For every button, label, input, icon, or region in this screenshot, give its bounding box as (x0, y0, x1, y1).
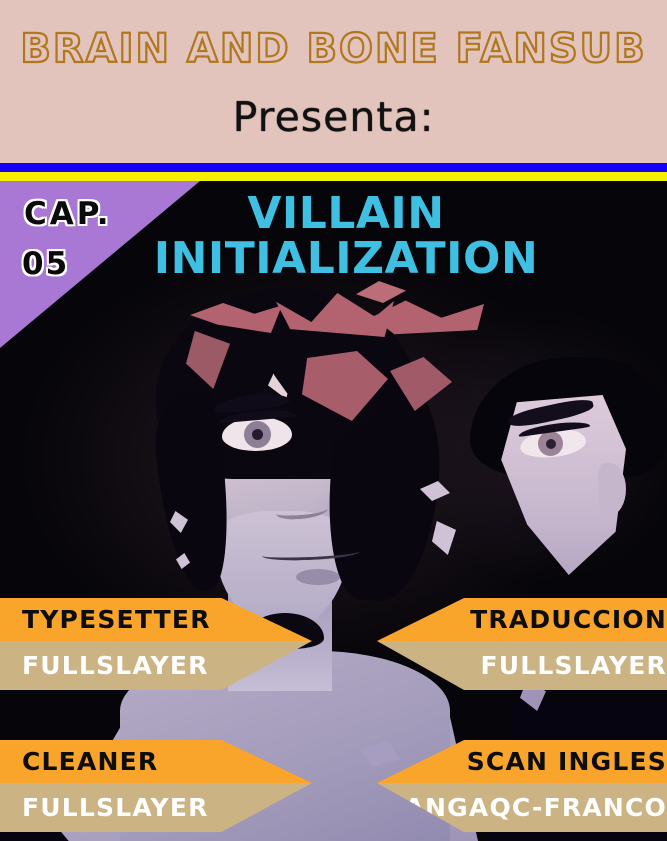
credits-page: BRAIN AND BONE FANSUB Presenta: (0, 0, 667, 841)
credit-role-label: TYPESETTER (22, 605, 211, 634)
credit-name-label: FULLSLAYER (22, 651, 209, 680)
manga-title-line-one: VILLAIN (96, 192, 596, 237)
credit-name-label: FULLSLAYER (480, 651, 667, 680)
chapter-number: 05 (22, 246, 69, 282)
header-band: BRAIN AND BONE FANSUB Presenta: (0, 0, 667, 163)
credit-role-label: SCAN INGLES (467, 747, 667, 776)
credit-role-label: CLEANER (22, 747, 158, 776)
blue-divider-stripe (0, 163, 667, 172)
character-one-chin-shadow (296, 569, 340, 585)
credit-role-label: TRADUCCION (470, 605, 667, 634)
character-one-pupil (252, 429, 263, 440)
character-two-pupil (546, 439, 556, 449)
manga-title: VILLAIN INITIALIZATION (96, 192, 596, 282)
credit-name-label: FULLSLAYER (22, 793, 209, 822)
yellow-divider-stripe (0, 172, 667, 181)
fansub-name-title: BRAIN AND BONE FANSUB (0, 26, 667, 72)
manga-title-line-two: INITIALIZATION (96, 237, 596, 282)
presents-label: Presenta: (0, 93, 667, 141)
